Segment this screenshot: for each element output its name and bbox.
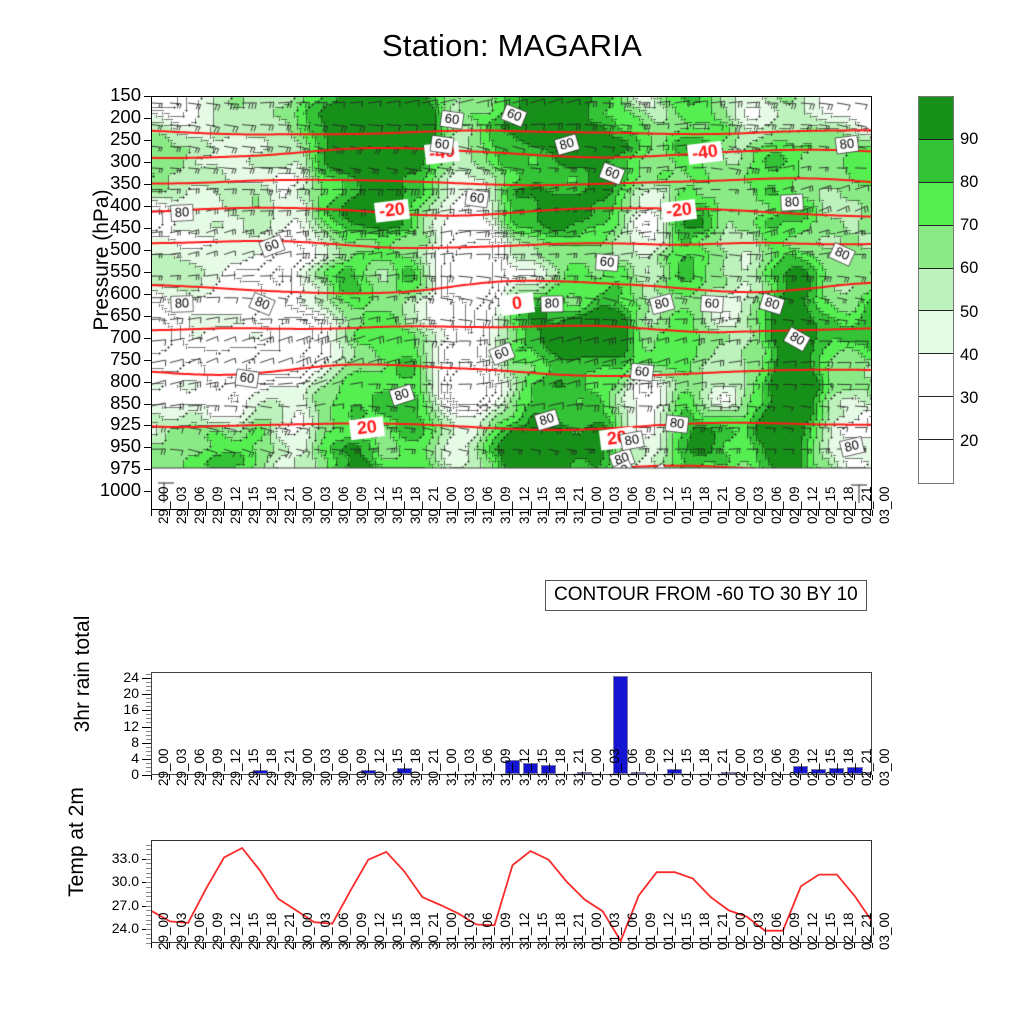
time-tick-30_15: 30_15 — [390, 748, 405, 786]
contour-legend: CONTOUR FROM -60 TO 30 BY 10 — [545, 580, 867, 611]
time-tickmark — [530, 510, 531, 516]
time-tickmark — [620, 943, 621, 948]
temp-minor-tick — [146, 868, 151, 869]
time-tickmark — [241, 943, 242, 948]
time-tick-02_00: 02_00 — [733, 486, 748, 524]
time-tick-01_06: 01_06 — [625, 486, 640, 524]
time-tickmark — [295, 775, 296, 780]
time-tickmark — [313, 775, 314, 780]
time-tickmark — [728, 775, 729, 780]
time-tickmark — [818, 943, 819, 948]
time-tick-02_18: 02_18 — [841, 748, 856, 786]
time-tickmark — [656, 775, 657, 780]
colorbar-label-40: 40 — [960, 347, 978, 364]
time-tickmark — [710, 943, 711, 948]
pressure-tick-1000: 1000 — [81, 481, 141, 500]
time-tick-01_03: 01_03 — [607, 748, 622, 786]
time-tick-29_03: 29_03 — [174, 748, 189, 786]
pressure-tickmark — [144, 425, 151, 426]
time-tickmark — [512, 775, 513, 780]
pressure-tickmark — [144, 469, 151, 470]
pressure-tickmark — [144, 228, 151, 229]
rain-minor-tick — [146, 698, 151, 699]
time-tickmark — [457, 943, 458, 948]
time-tick-31_18: 31_18 — [553, 748, 568, 786]
colorbar-band-3 — [919, 226, 953, 269]
time-tickmark — [349, 775, 350, 780]
time-tick-02_15: 02_15 — [823, 748, 838, 786]
time-tickmark — [764, 775, 765, 780]
time-tickmark — [277, 775, 278, 780]
time-tickmark — [259, 775, 260, 780]
time-tick-01_15: 01_15 — [679, 486, 694, 524]
time-tick-02_00: 02_00 — [733, 748, 748, 786]
pressure-tickmark — [144, 118, 151, 119]
pressure-tick-350: 350 — [81, 174, 141, 193]
time-tick-29_18: 29_18 — [264, 748, 279, 786]
time-tick-01_12: 01_12 — [661, 486, 676, 524]
colorbar-label-70: 70 — [960, 217, 978, 234]
time-tickmark — [169, 510, 170, 516]
time-tick-31_15: 31_15 — [535, 748, 550, 786]
temp-minor-tick — [146, 849, 151, 850]
time-tickmark — [548, 510, 549, 516]
rain-minor-tick — [146, 771, 151, 772]
time-tickmark — [530, 943, 531, 948]
time-tickmark — [439, 943, 440, 948]
time-tick-29_06: 29_06 — [192, 486, 207, 524]
time-tickmark — [872, 775, 873, 780]
pressure-tickmark — [144, 140, 151, 141]
time-tick-31_15: 31_15 — [535, 486, 550, 524]
time-tickmark — [764, 510, 765, 516]
time-tick-31_12: 31_12 — [517, 748, 532, 786]
pressure-tickmark — [144, 404, 151, 405]
time-tick-30_12: 30_12 — [372, 486, 387, 524]
temp-minor-tick — [146, 920, 151, 921]
pressure-tickmark — [144, 96, 151, 97]
rain-tick-12: 12 — [99, 719, 139, 733]
time-tick-29_15: 29_15 — [246, 486, 261, 524]
time-tickmark — [512, 510, 513, 516]
time-tickmark — [475, 510, 476, 516]
time-tickmark — [530, 775, 531, 780]
time-tickmark — [151, 510, 152, 516]
time-tick-01_00: 01_00 — [589, 748, 604, 786]
pressure-tick-150: 150 — [81, 86, 141, 105]
rain-minor-tick — [146, 702, 151, 703]
time-tick-29_21: 29_21 — [282, 486, 297, 524]
time-tickmark — [836, 943, 837, 948]
time-tickmark — [259, 943, 260, 948]
rain-tick-8: 8 — [99, 735, 139, 749]
temp-minor-tick — [146, 877, 151, 878]
time-tick-29_18: 29_18 — [264, 486, 279, 524]
time-tickmark — [818, 775, 819, 780]
temp-minor-tick — [146, 901, 151, 902]
time-tick-30_18: 30_18 — [408, 748, 423, 786]
time-tickmark — [277, 510, 278, 516]
time-tick-30_12: 30_12 — [372, 748, 387, 786]
time-tickmark — [692, 775, 693, 780]
time-tickmark — [331, 510, 332, 516]
time-tick-01_09: 01_09 — [643, 748, 658, 786]
rain-minor-tick — [146, 755, 151, 756]
colorbar-band-4 — [919, 269, 953, 312]
time-tick-02_09: 02_09 — [787, 748, 802, 786]
time-tickmark — [223, 775, 224, 780]
time-tick-01_18: 01_18 — [697, 748, 712, 786]
temp-minor-tick — [146, 915, 151, 916]
time-tickmark — [169, 775, 170, 780]
pressure-tick-925: 925 — [81, 415, 141, 434]
cross-section-plot-area — [151, 96, 872, 510]
rain-minor-tick — [146, 767, 151, 768]
time-tickmark — [656, 510, 657, 516]
pressure-tick-800: 800 — [81, 372, 141, 391]
pressure-tickmark — [144, 447, 151, 448]
pressure-tickmark — [144, 338, 151, 339]
time-tickmark — [674, 943, 675, 948]
temp-minor-tick — [146, 934, 151, 935]
time-tick-31_09: 31_09 — [498, 748, 513, 786]
time-tick-30_21: 30_21 — [426, 486, 441, 524]
time-tick-31_03: 31_03 — [462, 486, 477, 524]
time-tick-31_06: 31_06 — [480, 748, 495, 786]
time-tickmark — [620, 775, 621, 780]
time-tickmark — [223, 510, 224, 516]
pressure-tickmark — [144, 491, 151, 492]
colorbar-band-1 — [919, 140, 953, 183]
time-tickmark — [187, 943, 188, 948]
time-tick-02_03: 02_03 — [751, 748, 766, 786]
pressure-tickmark — [144, 360, 151, 361]
rain-minor-tick — [146, 751, 151, 752]
time-tickmark — [782, 775, 783, 780]
time-tick-29_12: 29_12 — [228, 486, 243, 524]
time-tickmark — [439, 775, 440, 780]
time-tick-31_00: 31_00 — [444, 486, 459, 524]
humidity-colorbar — [918, 96, 954, 484]
colorbar-label-90: 90 — [960, 131, 978, 148]
time-tickmark — [854, 943, 855, 948]
time-tick-03_00: 03_00 — [877, 486, 892, 524]
time-tickmark — [674, 775, 675, 780]
time-tickmark — [403, 775, 404, 780]
time-tickmark — [277, 943, 278, 948]
time-tickmark — [151, 943, 152, 948]
colorbar-label-30: 30 — [960, 390, 978, 407]
temp-axis-label: Temp at 2m — [65, 727, 89, 957]
time-tickmark — [349, 510, 350, 516]
time-tick-02_18: 02_18 — [841, 486, 856, 524]
colorbar-label-80: 80 — [960, 174, 978, 191]
time-tick-02_15: 02_15 — [823, 486, 838, 524]
time-tickmark — [187, 510, 188, 516]
rain-minor-tick — [146, 731, 151, 732]
time-tickmark — [367, 775, 368, 780]
colorbar-band-8 — [919, 440, 953, 483]
time-tickmark — [403, 943, 404, 948]
temp-minor-tick — [146, 845, 151, 846]
temp-minor-tick — [146, 906, 151, 907]
rain-minor-tick — [146, 739, 151, 740]
time-tick-31_09: 31_09 — [498, 486, 513, 524]
time-tick-02_09: 02_09 — [787, 486, 802, 524]
time-tickmark — [385, 943, 386, 948]
time-tickmark — [710, 510, 711, 516]
time-tickmark — [782, 943, 783, 948]
time-tick-30_18: 30_18 — [408, 486, 423, 524]
rain-tickmark — [142, 678, 151, 679]
time-tickmark — [313, 510, 314, 516]
time-tickmark — [584, 510, 585, 516]
time-tick-30_03: 30_03 — [318, 486, 333, 524]
time-tick-01_00: 01_00 — [589, 486, 604, 524]
time-tick-29_00: 29_00 — [156, 748, 171, 786]
time-tickmark — [349, 943, 350, 948]
time-tickmark — [710, 775, 711, 780]
time-tickmark — [872, 943, 873, 948]
time-tick-30_06: 30_06 — [336, 748, 351, 786]
pressure-tick-700: 700 — [81, 328, 141, 347]
time-tickmark — [187, 775, 188, 780]
colorbar-band-5 — [919, 311, 953, 354]
pressure-tick-200: 200 — [81, 108, 141, 127]
time-tickmark — [421, 510, 422, 516]
pressure-tickmark — [144, 272, 151, 273]
time-tickmark — [584, 775, 585, 780]
time-tickmark — [385, 510, 386, 516]
time-tick-30_03: 30_03 — [318, 748, 333, 786]
rain-tickmark — [142, 694, 151, 695]
time-tick-29_03: 29_03 — [174, 486, 189, 524]
time-tickmark — [403, 510, 404, 516]
time-tickmark — [566, 943, 567, 948]
time-tickmark — [205, 775, 206, 780]
pressure-tick-450: 450 — [81, 218, 141, 237]
time-tickmark — [313, 943, 314, 948]
time-tick-31_21: 31_21 — [571, 748, 586, 786]
time-tickmark — [764, 943, 765, 948]
temp-minor-tick — [146, 859, 151, 860]
time-tick-01_15: 01_15 — [679, 748, 694, 786]
time-tickmark — [512, 943, 513, 948]
time-tick-30_21: 30_21 — [426, 748, 441, 786]
time-tick-02_03: 02_03 — [751, 486, 766, 524]
time-tickmark — [836, 775, 837, 780]
time-tickmark — [439, 510, 440, 516]
pressure-tick-250: 250 — [81, 130, 141, 149]
time-tickmark — [421, 943, 422, 948]
time-tick-31_00: 31_00 — [444, 748, 459, 786]
rain-tick-20: 20 — [99, 686, 139, 700]
time-tickmark — [728, 943, 729, 948]
time-tickmark — [818, 510, 819, 516]
time-tickmark — [638, 943, 639, 948]
temp-tick-33: 33.0 — [87, 851, 139, 865]
time-tick-03_00: 03_00 — [877, 912, 892, 950]
rain-minor-tick — [146, 682, 151, 683]
colorbar-label-60: 60 — [960, 260, 978, 277]
time-tick-30_09: 30_09 — [354, 748, 369, 786]
time-tickmark — [151, 775, 152, 780]
pressure-tickmark — [144, 382, 151, 383]
pressure-tick-850: 850 — [81, 394, 141, 413]
pressure-tickmark — [144, 294, 151, 295]
time-tick-31_21: 31_21 — [571, 486, 586, 524]
time-tickmark — [746, 510, 747, 516]
time-tick-29_12: 29_12 — [228, 748, 243, 786]
time-tick-01_12: 01_12 — [661, 748, 676, 786]
time-tickmark — [692, 510, 693, 516]
rain-tickmark — [142, 775, 151, 776]
colorbar-band-7 — [919, 397, 953, 440]
rain-minor-tick — [146, 747, 151, 748]
pressure-tickmark — [144, 316, 151, 317]
pressure-tickmark — [144, 184, 151, 185]
time-tickmark — [728, 510, 729, 516]
time-tickmark — [584, 943, 585, 948]
time-tick-02_12: 02_12 — [805, 748, 820, 786]
time-tick-29_09: 29_09 — [210, 748, 225, 786]
colorbar-band-6 — [919, 354, 953, 397]
time-tick-31_12: 31_12 — [517, 486, 532, 524]
temp-tick-30: 30.0 — [87, 874, 139, 888]
temp-tick-24: 24.0 — [87, 921, 139, 935]
time-tick-02_06: 02_06 — [769, 486, 784, 524]
time-tickmark — [638, 775, 639, 780]
time-tick-30_00: 30_00 — [300, 748, 315, 786]
time-tickmark — [872, 510, 873, 516]
time-tick-01_21: 01_21 — [715, 486, 730, 524]
pressure-tick-950: 950 — [81, 437, 141, 456]
time-tick-30_00: 30_00 — [300, 486, 315, 524]
temp-minor-tick — [146, 854, 151, 855]
time-tickmark — [674, 510, 675, 516]
pressure-tickmark — [144, 162, 151, 163]
time-tick-29_15: 29_15 — [246, 748, 261, 786]
rain-tickmark — [142, 743, 151, 744]
time-tickmark — [367, 510, 368, 516]
rain-tickmark — [142, 759, 151, 760]
time-tick-02_21: 02_21 — [859, 748, 874, 786]
page-title: Station: MAGARIA — [0, 28, 1024, 64]
time-tickmark — [602, 510, 603, 516]
time-tickmark — [205, 943, 206, 948]
temp-minor-tick — [146, 924, 151, 925]
temp-minor-tick — [146, 863, 151, 864]
time-tickmark — [746, 775, 747, 780]
time-tickmark — [602, 775, 603, 780]
time-tick-30_15: 30_15 — [390, 486, 405, 524]
pressure-tick-750: 750 — [81, 350, 141, 369]
time-tickmark — [421, 775, 422, 780]
time-tickmark — [493, 943, 494, 948]
colorbar-band-2 — [919, 183, 953, 226]
rain-minor-tick — [146, 714, 151, 715]
time-tick-02_12: 02_12 — [805, 486, 820, 524]
colorbar-label-50: 50 — [960, 304, 978, 321]
time-tick-31_06: 31_06 — [480, 486, 495, 524]
time-tickmark — [241, 775, 242, 780]
rain-minor-tick — [146, 686, 151, 687]
time-tickmark — [223, 943, 224, 948]
time-tickmark — [205, 510, 206, 516]
rain-minor-tick — [146, 718, 151, 719]
time-tickmark — [457, 775, 458, 780]
rain-tickmark — [142, 727, 151, 728]
time-tick-01_18: 01_18 — [697, 486, 712, 524]
time-tickmark — [836, 510, 837, 516]
temp-minor-tick — [146, 882, 151, 883]
rain-minor-tick — [146, 690, 151, 691]
time-tickmark — [331, 943, 332, 948]
time-tickmark — [800, 943, 801, 948]
time-tick-31_18: 31_18 — [553, 486, 568, 524]
time-tick-01_21: 01_21 — [715, 748, 730, 786]
time-tickmark — [638, 510, 639, 516]
time-tickmark — [656, 943, 657, 948]
temp-minor-tick — [146, 910, 151, 911]
pressure-tick-600: 600 — [81, 284, 141, 303]
time-tick-03_00: 03_00 — [877, 748, 892, 786]
pressure-tick-975: 975 — [81, 459, 141, 478]
time-tickmark — [800, 510, 801, 516]
time-tick-01_06: 01_06 — [625, 748, 640, 786]
temp-minor-tick — [146, 892, 151, 893]
time-tickmark — [566, 510, 567, 516]
time-tick-30_06: 30_06 — [336, 486, 351, 524]
time-tick-29_09: 29_09 — [210, 486, 225, 524]
time-tickmark — [241, 510, 242, 516]
pressure-tick-650: 650 — [81, 306, 141, 325]
rain-tick-0: 0 — [99, 767, 139, 781]
time-tickmark — [854, 775, 855, 780]
time-tick-30_09: 30_09 — [354, 486, 369, 524]
time-tick-31_03: 31_03 — [462, 748, 477, 786]
temp-minor-tick — [146, 896, 151, 897]
time-tickmark — [782, 510, 783, 516]
humidity-contour-canvas — [152, 97, 872, 510]
time-tickmark — [854, 510, 855, 516]
rain-tick-4: 4 — [99, 751, 139, 765]
time-tickmark — [457, 510, 458, 516]
temp-minor-tick — [146, 887, 151, 888]
time-tickmark — [566, 775, 567, 780]
time-tickmark — [367, 943, 368, 948]
rain-minor-tick — [146, 722, 151, 723]
time-tickmark — [800, 775, 801, 780]
time-tickmark — [746, 943, 747, 948]
temp-minor-tick — [146, 938, 151, 939]
time-tickmark — [620, 510, 621, 516]
pressure-tick-500: 500 — [81, 240, 141, 259]
colorbar-label-20: 20 — [960, 433, 978, 450]
time-tick-29_06: 29_06 — [192, 748, 207, 786]
time-tick-01_09: 01_09 — [643, 486, 658, 524]
pressure-tick-400: 400 — [81, 196, 141, 215]
time-tick-02_21: 02_21 — [859, 486, 874, 524]
time-tickmark — [602, 943, 603, 948]
rain-tick-24: 24 — [99, 670, 139, 684]
rain-minor-tick — [146, 674, 151, 675]
rain-minor-tick — [146, 706, 151, 707]
time-tickmark — [475, 943, 476, 948]
rain-tickmark — [142, 710, 151, 711]
pressure-tick-300: 300 — [81, 152, 141, 171]
rain-minor-tick — [146, 735, 151, 736]
